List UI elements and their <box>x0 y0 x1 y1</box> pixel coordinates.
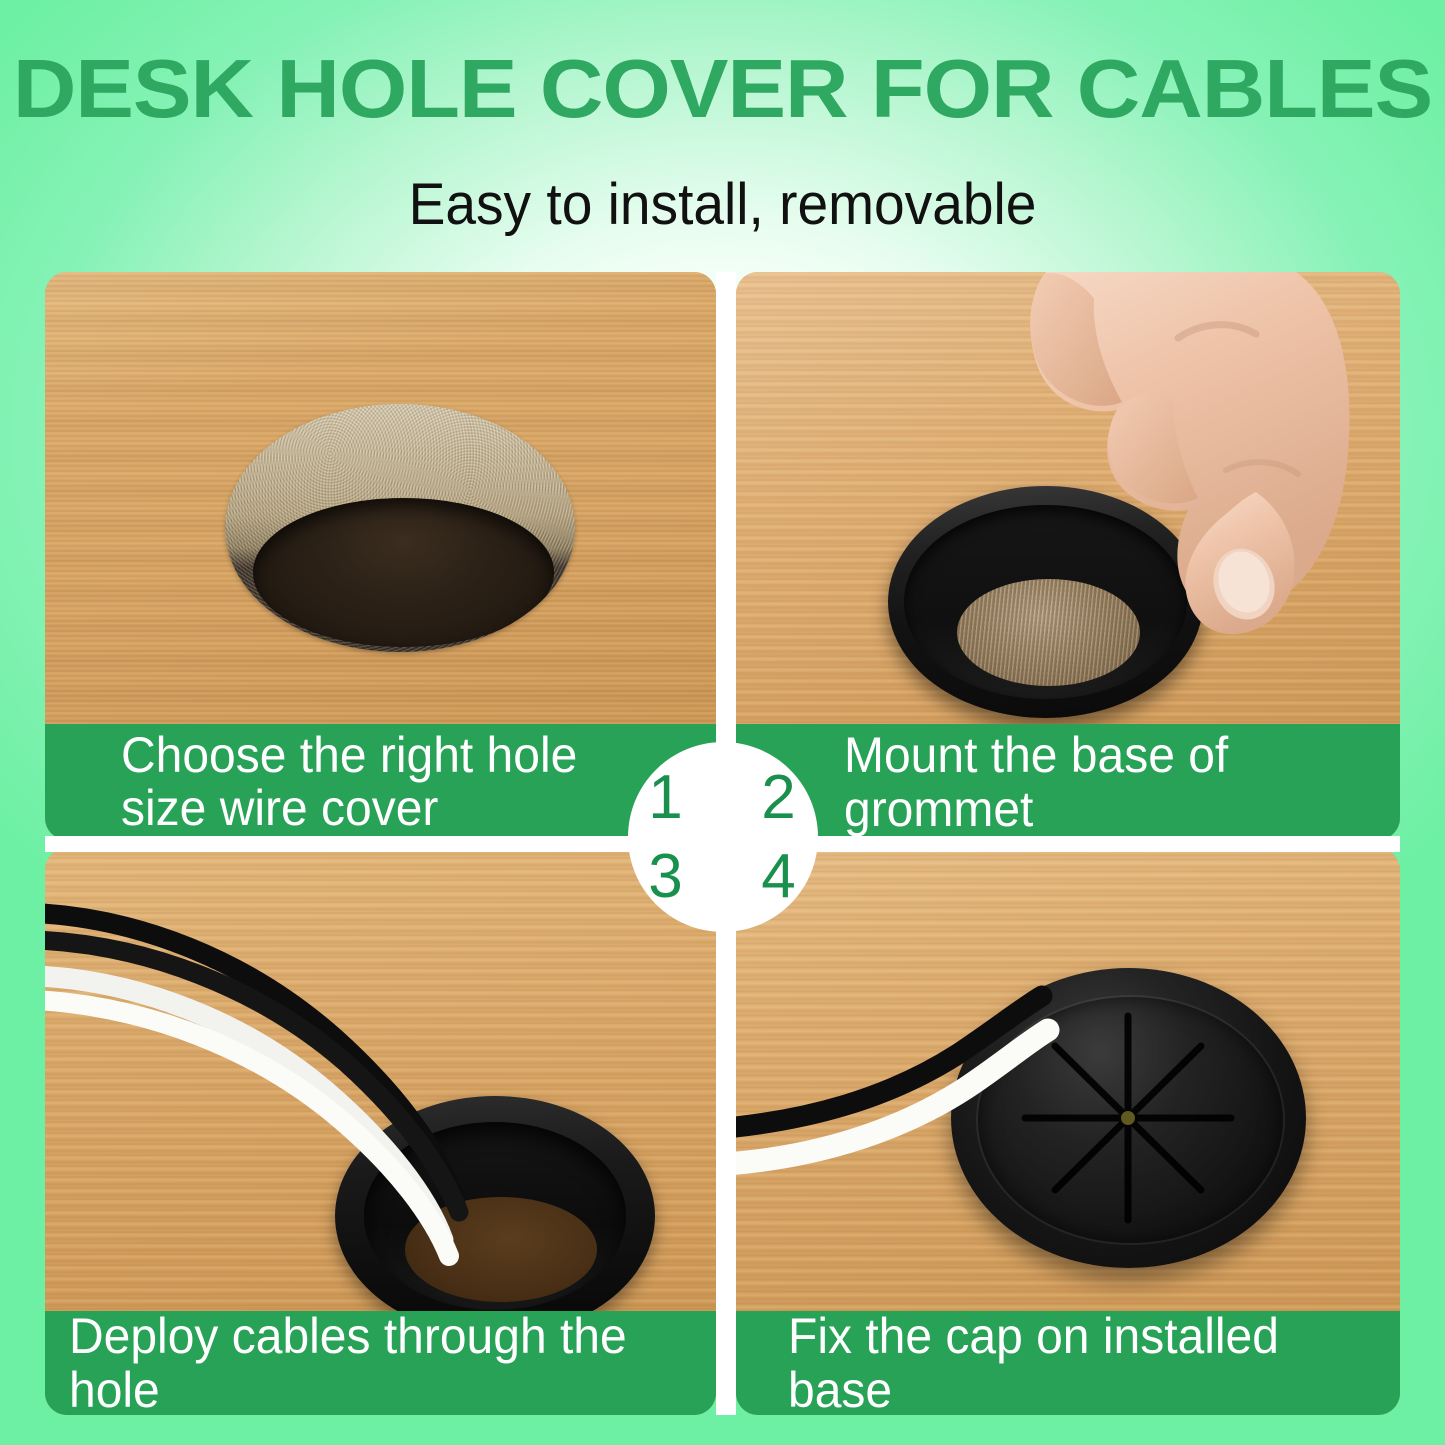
step-3-caption: Deploy cables through the hole <box>45 1311 716 1415</box>
caption-line-2: size wire cover <box>121 782 577 835</box>
drilled-hole <box>225 404 575 652</box>
step-4-caption: Fix the cap on installed base <box>736 1311 1400 1415</box>
horizontal-divider <box>45 836 1400 852</box>
caption-line-1: Deploy cables through the hole <box>69 1311 690 1415</box>
caption-line-1: Fix the cap on installed base <box>788 1311 1376 1415</box>
step-2-caption: Mount the base of grommet <box>736 724 1400 840</box>
caption-line-1: Mount the base of grommet <box>844 728 1364 836</box>
infographic-canvas: DESK HOLE COVER FOR CABLES Easy to insta… <box>0 0 1445 1445</box>
step-1-caption: Choose the right hole size wire cover <box>45 724 716 840</box>
hole-opening <box>253 498 554 647</box>
page-subtitle: Easy to install, removable <box>36 172 1409 238</box>
caption-line-1: Choose the right hole <box>121 729 577 782</box>
page-title: DESK HOLE COVER FOR CABLES <box>0 44 1445 134</box>
step-number-2: 2 <box>723 742 818 837</box>
step-number-1: 1 <box>628 742 723 837</box>
hand-icon <box>926 272 1356 672</box>
